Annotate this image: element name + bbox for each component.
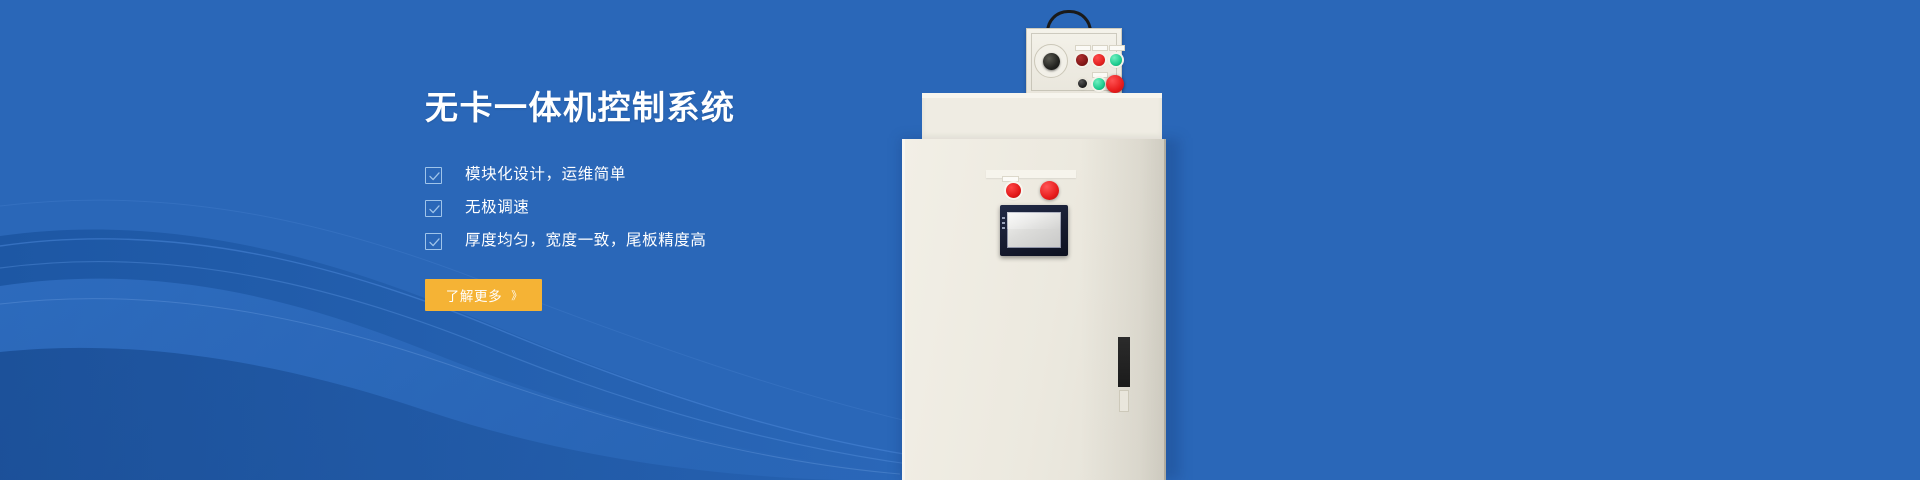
- check-square-icon: [425, 200, 442, 217]
- banner-text-column: 无卡一体机控制系统 模块化设计，运维简单 无极调速: [425, 88, 985, 311]
- feature-label: 模块化设计，运维简单: [465, 167, 626, 183]
- button-label-plate: [1075, 45, 1091, 51]
- button-label-plate: [1092, 45, 1108, 51]
- indicator-dark-red[interactable]: [1076, 54, 1088, 66]
- door-indicator-red-large[interactable]: [1040, 181, 1059, 200]
- hmi-screen-glare: [1007, 212, 1061, 229]
- feature-item-1: 模块化设计，运维简单: [425, 159, 985, 192]
- button-label-plate: [1109, 45, 1125, 51]
- emergency-stop-red[interactable]: [1106, 75, 1124, 93]
- indicator-green[interactable]: [1110, 54, 1122, 66]
- hmi-status-leds: [1002, 217, 1005, 233]
- page-title: 无卡一体机控制系统: [425, 88, 985, 128]
- hero-banner: 无卡一体机控制系统 模块化设计，运维简单 无极调速: [0, 0, 1920, 480]
- chevron-right-icon: 》: [511, 287, 521, 303]
- feature-list: 模块化设计，运维简单 无极调速 厚度均匀，宽度一致，尾板精度高: [425, 159, 985, 258]
- feature-item-3: 厚度均匀，宽度一致，尾板精度高: [425, 225, 985, 258]
- indicator-green-2[interactable]: [1093, 78, 1105, 90]
- cta-wrapper: 了解更多 》: [425, 279, 985, 311]
- feature-label: 厚度均匀，宽度一致，尾板精度高: [465, 233, 707, 249]
- check-square-icon: [425, 233, 442, 250]
- door-button-label-plate: [1002, 176, 1019, 182]
- indicator-red[interactable]: [1093, 54, 1105, 66]
- cabinet-latch[interactable]: [1119, 390, 1129, 412]
- check-square-icon: [425, 167, 442, 184]
- learn-more-button[interactable]: 了解更多 》: [425, 279, 542, 311]
- door-indicator-red-small[interactable]: [1006, 183, 1021, 198]
- rotary-selector-knob[interactable]: [1043, 53, 1060, 70]
- cabinet-door-seam: [1164, 139, 1166, 480]
- feature-item-2: 无极调速: [425, 192, 985, 225]
- door-trim-plate: [986, 170, 1076, 178]
- learn-more-label: 了解更多: [446, 285, 502, 305]
- cabinet-vent-strip: [1118, 337, 1130, 387]
- feature-label: 无极调速: [465, 200, 529, 216]
- button-black-small[interactable]: [1078, 79, 1087, 88]
- product-photo: [900, 0, 1920, 480]
- hmi-touchscreen[interactable]: [1000, 205, 1068, 256]
